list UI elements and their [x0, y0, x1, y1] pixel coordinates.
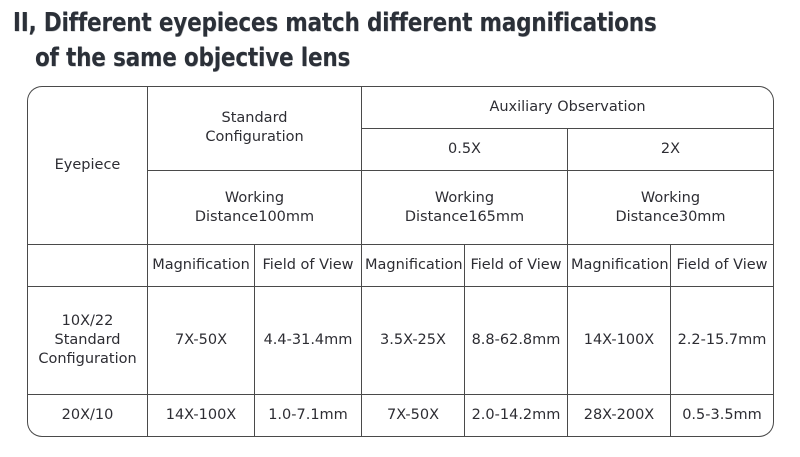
header-metric-magnification-standard: Magnification: [148, 245, 255, 287]
table-row: 20X/10 14X-100X 1.0-7.1mm 7X-50X 2.0-14.…: [28, 395, 774, 437]
working-distance-value-aux-0-5x: Distance165mm: [405, 209, 524, 225]
table-header-row-metrics: Magnification Field of View Magnificatio…: [28, 245, 774, 287]
row-1-cell-3: 2.0-14.2mm: [465, 395, 568, 437]
row-1-cell-1: 1.0-7.1mm: [255, 395, 362, 437]
row-0-cell-1: 4.4-31.4mm: [255, 287, 362, 395]
working-distance-value-standard: Distance100mm: [195, 209, 314, 225]
header-metric-field-of-view-aux-0-5x: Field of View: [465, 245, 568, 287]
header-standard-configuration: Standard Configuration: [148, 87, 362, 171]
header-auxiliary-observation: Auxiliary Observation: [362, 87, 774, 129]
page-title: II, Different eyepieces match different …: [0, 0, 800, 76]
table-row: 10X/22 Standard Configuration 7X-50X 4.4…: [28, 287, 774, 395]
row-0-cell-4: 14X-100X: [568, 287, 671, 395]
row-1-cell-5: 0.5-3.5mm: [671, 395, 774, 437]
header-working-distance-aux-2x: Working Distance30mm: [568, 170, 774, 245]
header-aux-0-5x: 0.5X: [362, 128, 568, 170]
specifications-table-container: Eyepiece Standard Configuration Auxiliar…: [27, 86, 774, 437]
working-distance-label-standard: Working: [225, 190, 284, 206]
row-1-cell-2: 7X-50X: [362, 395, 465, 437]
table-header-row-group: Eyepiece Standard Configuration Auxiliar…: [28, 87, 774, 129]
row-0-cell-5: 2.2-15.7mm: [671, 287, 774, 395]
working-distance-value-aux-2x: Distance30mm: [615, 209, 725, 225]
header-aux-2x: 2X: [568, 128, 774, 170]
row-0-cell-0: 7X-50X: [148, 287, 255, 395]
row-0-cell-2: 3.5X-25X: [362, 287, 465, 395]
row-0-eyepiece-line-2: Standard: [55, 332, 121, 348]
row-0-cell-3: 8.8-62.8mm: [465, 287, 568, 395]
row-1-cell-4: 28X-200X: [568, 395, 671, 437]
row-0-eyepiece-line-1: 10X/22: [62, 313, 114, 329]
header-standard-configuration-line-1: Standard: [222, 110, 288, 126]
header-metric-field-of-view-aux-2x: Field of View: [671, 245, 774, 287]
working-distance-label-aux-0-5x: Working: [435, 190, 494, 206]
specifications-table: Eyepiece Standard Configuration Auxiliar…: [27, 86, 774, 437]
working-distance-label-aux-2x: Working: [641, 190, 700, 206]
header-empty-eyepiece-spacer: [28, 245, 148, 287]
header-metric-magnification-aux-0-5x: Magnification: [362, 245, 465, 287]
header-metric-magnification-aux-2x: Magnification: [568, 245, 671, 287]
header-standard-configuration-line-2: Configuration: [205, 129, 303, 145]
row-0-eyepiece-line-3: Configuration: [38, 351, 136, 367]
row-0-eyepiece: 10X/22 Standard Configuration: [28, 287, 148, 395]
header-eyepiece: Eyepiece: [28, 87, 148, 245]
row-1-eyepiece: 20X/10: [28, 395, 148, 437]
header-metric-field-of-view-standard: Field of View: [255, 245, 362, 287]
header-working-distance-aux-0-5x: Working Distance165mm: [362, 170, 568, 245]
page-title-line-2: of the same objective lens: [0, 41, 736, 76]
header-working-distance-standard: Working Distance100mm: [148, 170, 362, 245]
row-1-cell-0: 14X-100X: [148, 395, 255, 437]
page-title-line-1: II, Different eyepieces match different …: [0, 6, 736, 41]
